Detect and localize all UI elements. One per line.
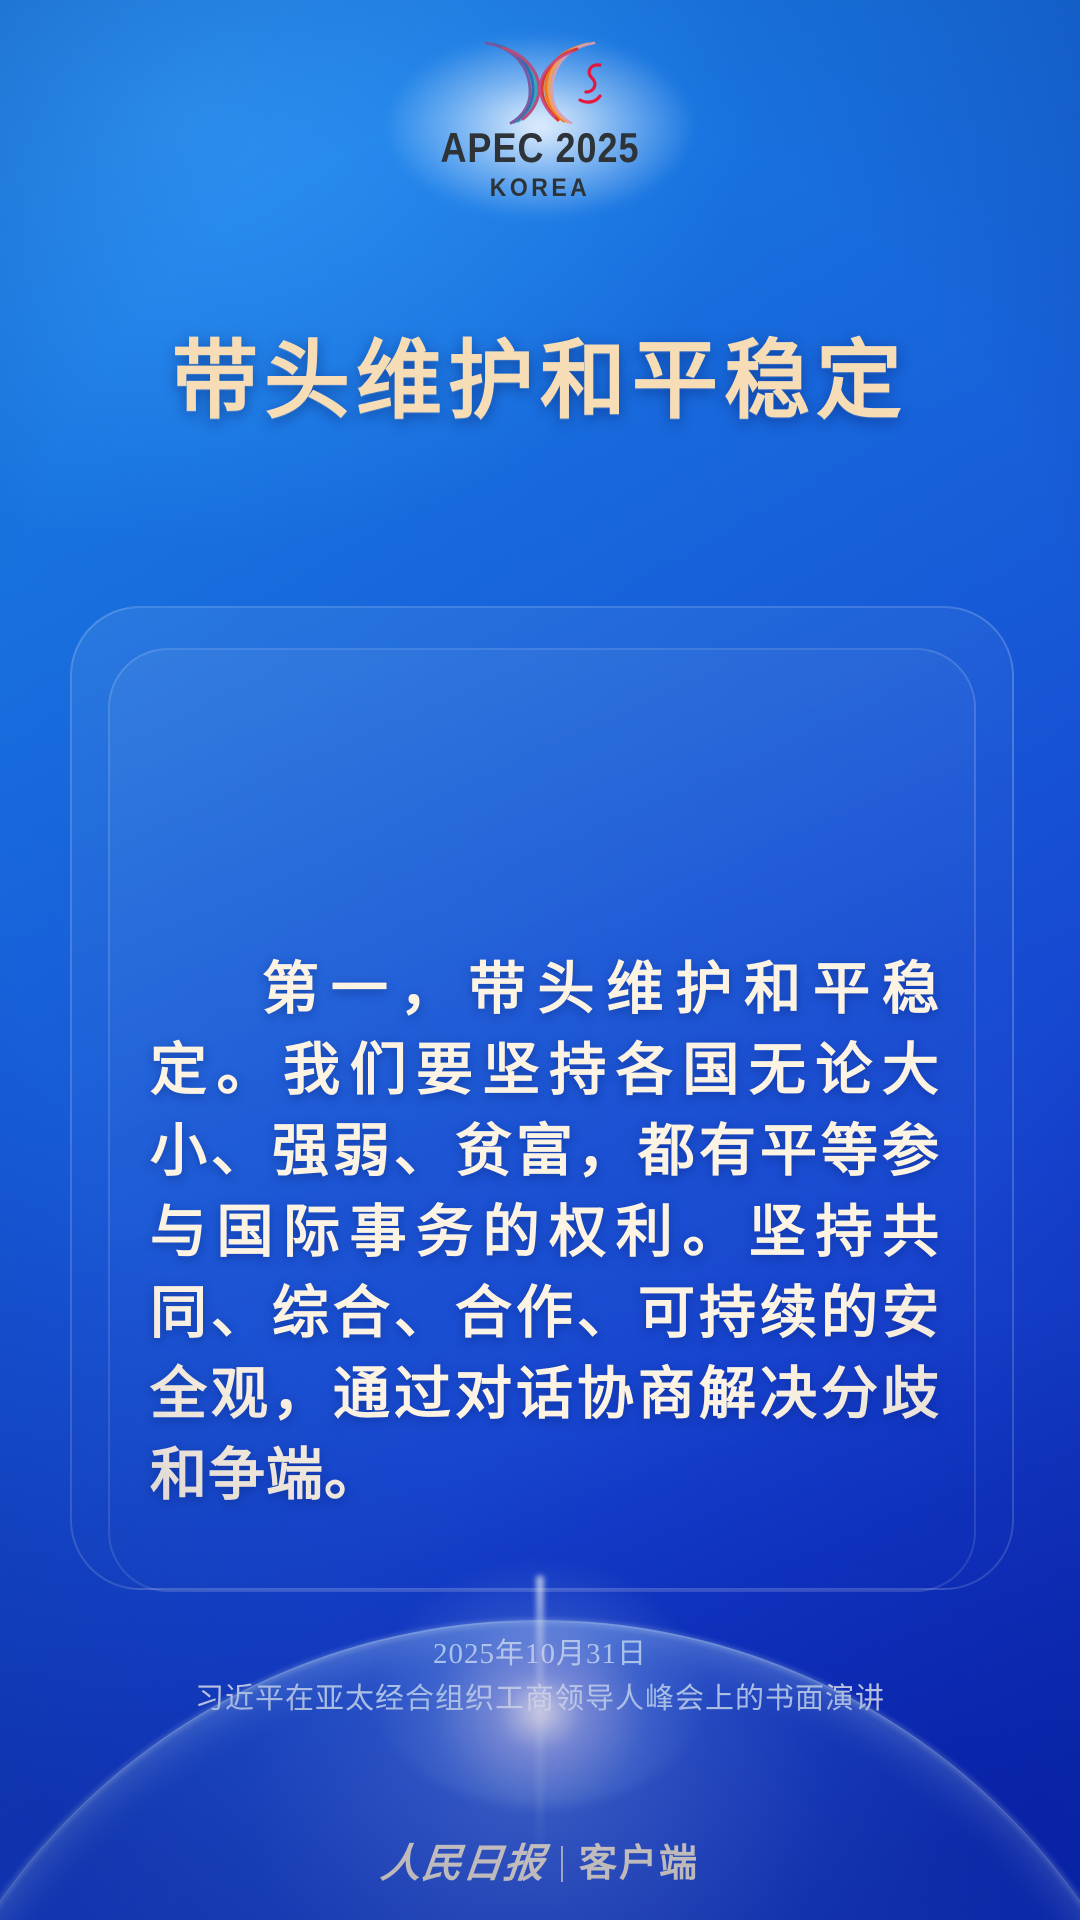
page-title: 带头维护和平稳定 (0, 330, 1080, 433)
publisher-wordmark: 人民日报 (379, 1844, 547, 1884)
poster-canvas: APEC 2025 KOREA 带头维护和平稳定 第一，带头维护和平稳定。我们要… (0, 0, 1080, 1920)
attribution-date: 2025年10月31日 (0, 1632, 1080, 1677)
apec-korea-2025-emblem-icon (440, 32, 640, 128)
brand-lockup: 人民日报 客户端 (0, 1844, 1080, 1884)
product-wordmark: 客户端 (579, 1845, 699, 1883)
apec-logo-title: APEC 2025 (440, 127, 639, 168)
attribution: 2025年10月31日 习近平在亚太经合组织工商领导人峰会上的书面演讲 (0, 1632, 1080, 1722)
apec-logo-block: APEC 2025 KOREA (0, 28, 1080, 218)
brand-divider (561, 1846, 563, 1882)
apec-logo-subtitle: KOREA (490, 175, 591, 200)
attribution-source: 习近平在亚太经合组织工商领导人峰会上的书面演讲 (0, 1677, 1080, 1722)
quote-body-text: 第一，带头维护和平稳定。我们要坚持各国无论大小、强弱、贫富，都有平等参与国际事务… (150, 950, 940, 1517)
earth-light-ray (537, 1576, 544, 1876)
